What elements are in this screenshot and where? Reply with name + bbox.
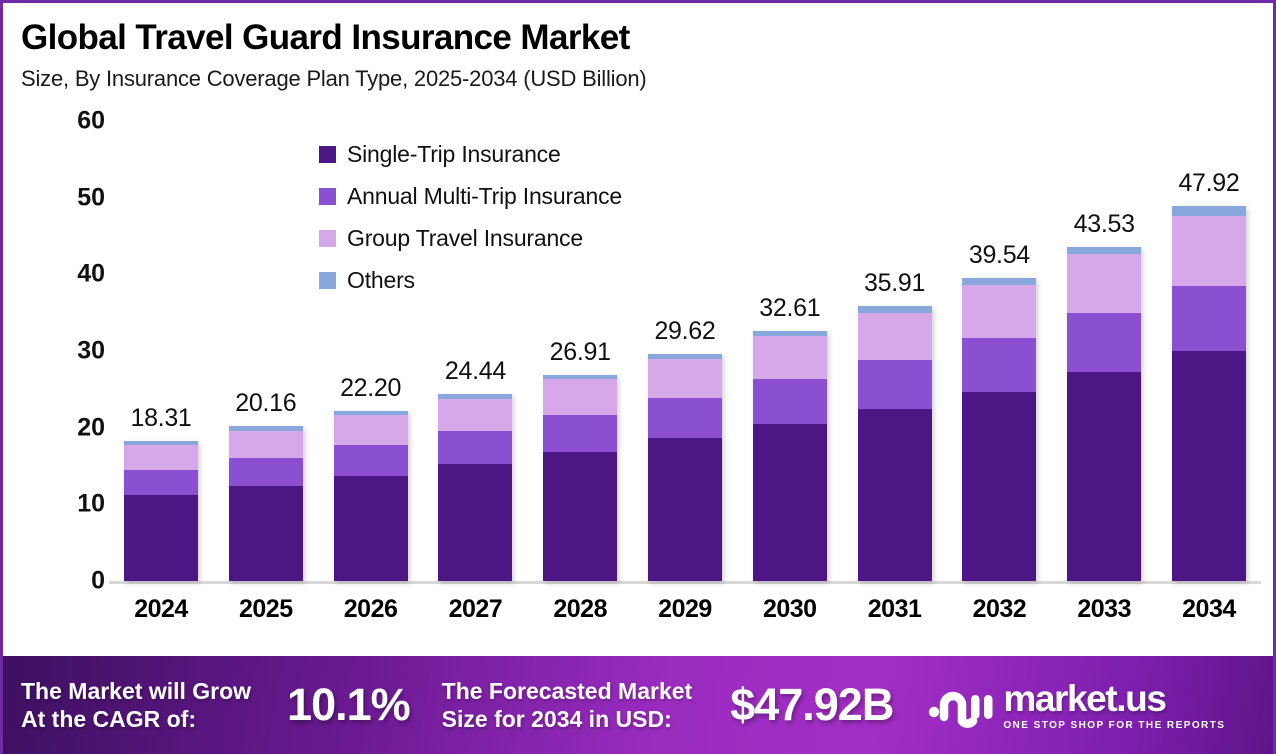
bar-segment[interactable] xyxy=(1067,313,1141,372)
bar-segment[interactable] xyxy=(1172,351,1246,581)
bar-total-label: 29.62 xyxy=(654,317,715,346)
brand-text: market.us ONE STOP SHOP FOR THE REPORTS xyxy=(1003,680,1225,731)
bar-segment[interactable] xyxy=(124,445,198,470)
market-us-logo-icon xyxy=(927,681,993,729)
x-axis-tick: 2031 xyxy=(843,595,947,624)
bar-column[interactable]: 18.31 xyxy=(109,121,213,581)
y-axis-tick: 30 xyxy=(43,337,105,366)
bar-stack[interactable] xyxy=(543,375,617,581)
bar-total-label: 43.53 xyxy=(1074,210,1135,239)
forecast-label-line1: The Forecasted Market xyxy=(442,677,693,705)
bar-segment[interactable] xyxy=(229,486,303,581)
footer-banner: The Market will Grow At the CAGR of: 10.… xyxy=(3,656,1276,754)
bar-column[interactable]: 39.54 xyxy=(947,121,1051,581)
forecast-label-line2: Size for 2034 in USD: xyxy=(442,705,693,733)
bar-segment[interactable] xyxy=(962,278,1036,285)
bar-segment[interactable] xyxy=(858,360,932,409)
bar-total-label: 24.44 xyxy=(445,357,506,386)
legend-label: Annual Multi-Trip Insurance xyxy=(347,183,622,210)
bar-segment[interactable] xyxy=(753,424,827,581)
bar-segment[interactable] xyxy=(334,415,408,445)
legend-label: Group Travel Insurance xyxy=(347,225,583,252)
y-axis-tick: 20 xyxy=(43,413,105,442)
bar-segment[interactable] xyxy=(124,495,198,581)
bar-segment[interactable] xyxy=(334,476,408,581)
bar-total-label: 35.91 xyxy=(864,269,925,298)
x-axis: 2024202520262027202820292030203120322033… xyxy=(109,595,1261,624)
legend-swatch-icon xyxy=(319,230,336,247)
bar-stack[interactable] xyxy=(334,411,408,581)
bar-column[interactable]: 20.16 xyxy=(214,121,318,581)
bar-segment[interactable] xyxy=(858,306,932,313)
bar-total-label: 22.20 xyxy=(340,374,401,403)
bar-segment[interactable] xyxy=(1172,286,1246,351)
legend-item-2[interactable]: Group Travel Insurance xyxy=(319,217,739,259)
bar-segment[interactable] xyxy=(334,445,408,476)
bar-segment[interactable] xyxy=(1172,216,1246,286)
x-axis-tick: 2029 xyxy=(633,595,737,624)
x-axis-tick: 2024 xyxy=(109,595,213,624)
bar-segment[interactable] xyxy=(648,438,722,581)
y-axis: 0102030405060 xyxy=(43,121,105,596)
y-axis-tick: 0 xyxy=(43,567,105,596)
cagr-value: 10.1% xyxy=(287,679,410,731)
x-axis-tick: 2032 xyxy=(947,595,1051,624)
bar-stack[interactable] xyxy=(753,331,827,581)
bar-segment[interactable] xyxy=(438,399,512,431)
x-axis-tick: 2025 xyxy=(214,595,318,624)
forecast-label: The Forecasted Market Size for 2034 in U… xyxy=(442,677,693,733)
bar-segment[interactable] xyxy=(438,464,512,581)
y-axis-tick: 60 xyxy=(43,107,105,136)
bar-stack[interactable] xyxy=(1172,206,1246,581)
y-axis-tick: 10 xyxy=(43,490,105,519)
bar-segment[interactable] xyxy=(962,392,1036,581)
bar-segment[interactable] xyxy=(753,336,827,379)
bar-stack[interactable] xyxy=(858,306,932,581)
bar-segment[interactable] xyxy=(1067,254,1141,313)
bar-segment[interactable] xyxy=(962,338,1036,392)
bar-segment[interactable] xyxy=(1172,206,1246,216)
y-axis-tick: 50 xyxy=(43,183,105,212)
brand-tagline: ONE STOP SHOP FOR THE REPORTS xyxy=(1003,721,1225,731)
brand-logo[interactable]: market.us ONE STOP SHOP FOR THE REPORTS xyxy=(927,680,1225,731)
bar-segment[interactable] xyxy=(962,285,1036,338)
legend-item-0[interactable]: Single-Trip Insurance xyxy=(319,133,739,175)
legend-swatch-icon xyxy=(319,272,336,289)
bar-segment[interactable] xyxy=(543,415,617,452)
bar-column[interactable]: 47.92 xyxy=(1157,121,1261,581)
bar-segment[interactable] xyxy=(648,359,722,398)
page-title: Global Travel Guard Insurance Market xyxy=(21,19,1273,58)
bar-total-label: 39.54 xyxy=(969,241,1030,270)
chart-subtitle: Size, By Insurance Coverage Plan Type, 2… xyxy=(21,66,1273,92)
legend-swatch-icon xyxy=(319,188,336,205)
bar-segment[interactable] xyxy=(858,409,932,581)
bar-segment[interactable] xyxy=(543,452,617,581)
bar-total-label: 26.91 xyxy=(550,338,611,367)
bar-stack[interactable] xyxy=(229,426,303,581)
bar-segment[interactable] xyxy=(1067,372,1141,581)
forecast-value: $47.92B xyxy=(730,679,893,731)
cagr-label: The Market will Grow At the CAGR of: xyxy=(21,677,251,733)
cagr-label-line1: The Market will Grow xyxy=(21,677,251,705)
cagr-label-line2: At the CAGR of: xyxy=(21,705,251,733)
bar-segment[interactable] xyxy=(1067,247,1141,254)
bar-segment[interactable] xyxy=(648,398,722,439)
x-axis-tick: 2028 xyxy=(528,595,632,624)
bar-segment[interactable] xyxy=(858,313,932,361)
x-axis-tick: 2033 xyxy=(1052,595,1156,624)
x-axis-tick: 2034 xyxy=(1157,595,1261,624)
bar-stack[interactable] xyxy=(648,354,722,581)
bar-segment[interactable] xyxy=(753,379,827,423)
chart-legend: Single-Trip InsuranceAnnual Multi-Trip I… xyxy=(319,133,739,301)
bar-total-label: 32.61 xyxy=(759,294,820,323)
brand-name: market.us xyxy=(1003,680,1225,717)
bar-column[interactable]: 35.91 xyxy=(843,121,947,581)
bar-column[interactable]: 43.53 xyxy=(1052,121,1156,581)
x-axis-tick: 2026 xyxy=(319,595,423,624)
bar-segment[interactable] xyxy=(229,458,303,486)
legend-item-3[interactable]: Others xyxy=(319,259,739,301)
bar-total-label: 47.92 xyxy=(1178,169,1239,198)
x-axis-tick: 2027 xyxy=(423,595,527,624)
bar-segment[interactable] xyxy=(543,379,617,415)
legend-item-1[interactable]: Annual Multi-Trip Insurance xyxy=(319,175,739,217)
bar-segment[interactable] xyxy=(229,431,303,459)
legend-label: Single-Trip Insurance xyxy=(347,141,561,168)
bar-stack[interactable] xyxy=(1067,247,1141,581)
bar-stack[interactable] xyxy=(438,394,512,581)
legend-label: Others xyxy=(347,267,415,294)
y-axis-tick: 40 xyxy=(43,260,105,289)
chart-header: Global Travel Guard Insurance Market Siz… xyxy=(3,3,1273,92)
bar-stack[interactable] xyxy=(962,278,1036,581)
infographic-root: Global Travel Guard Insurance Market Siz… xyxy=(0,0,1276,754)
x-axis-baseline xyxy=(109,581,1261,584)
legend-swatch-icon xyxy=(319,146,336,163)
bar-total-label: 18.31 xyxy=(130,404,191,433)
bar-column[interactable]: 32.61 xyxy=(738,121,842,581)
bar-total-label: 20.16 xyxy=(235,389,296,418)
bar-stack[interactable] xyxy=(124,441,198,581)
bar-segment[interactable] xyxy=(438,431,512,465)
bar-segment[interactable] xyxy=(124,470,198,495)
x-axis-tick: 2030 xyxy=(738,595,842,624)
